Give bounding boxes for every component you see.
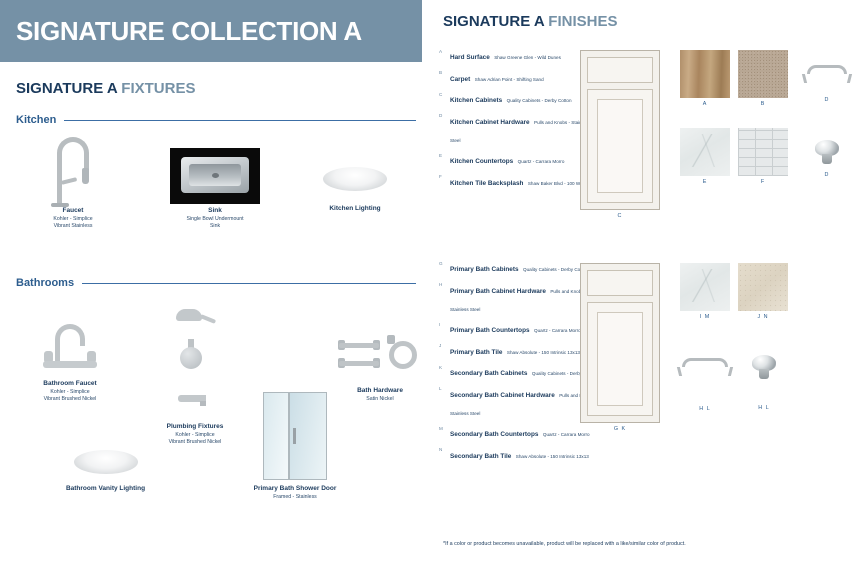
quartz-countertop-swatch (680, 128, 730, 176)
section-header-bathrooms: Bathrooms (16, 277, 416, 289)
fixture-caption: Bathroom Vanity Lighting (48, 485, 163, 494)
page-title: SIGNATURE COLLECTION A (0, 16, 362, 47)
fixture-sub1: Single Bowl Undermount (160, 216, 270, 223)
swatch-hard-surface: A (680, 50, 730, 98)
finishes-title-bold: SIGNATURE A (443, 13, 544, 30)
bath-cabinet-door-sample: G K (580, 263, 660, 423)
legend-item: H Primary Bath Cabinet Hardware Pulls an… (439, 280, 599, 316)
legend-key: G (439, 258, 450, 276)
fixture-name: Kitchen Lighting (300, 205, 410, 214)
swatch-label: D (803, 97, 851, 103)
legend-name: Secondary Bath Countertops (450, 431, 538, 438)
legend-sub: Quality Cabinets - Derby Cotton (507, 98, 572, 103)
legend-sub: Shaw Greene Glen - Wild Dunes (494, 55, 561, 60)
legend-item: M Secondary Bath Countertops Quartz - Ca… (439, 423, 599, 441)
swatch-label: F (738, 179, 788, 185)
quartz-countertop-swatch (680, 263, 730, 311)
legend-key: I (439, 319, 450, 337)
fixture-name: Bathroom Vanity Lighting (48, 485, 163, 494)
legend-key: A (439, 46, 450, 64)
legend-name: Kitchen Cabinet Hardware (450, 119, 530, 126)
finishes-title: SIGNATURE A FINISHES (443, 13, 617, 30)
fixture-caption: Primary Bath Shower Door Framed - Stainl… (240, 485, 350, 501)
floor-tile-swatch (738, 263, 788, 311)
fixture-sub1: Kohler - Simplice (10, 389, 130, 396)
section-rule (64, 120, 416, 121)
fixtures-subtitle-light: FIXTURES (121, 80, 195, 97)
legend-name: Primary Bath Tile (450, 349, 502, 356)
legend-name: Kitchen Cabinets (450, 97, 502, 104)
legend-item: L Secondary Bath Cabinet Hardware Pulls … (439, 384, 599, 420)
fixture-name: Bathroom Faucet (10, 380, 130, 389)
fixture-name: Faucet (18, 207, 128, 216)
legend-item: J Primary Bath Tile Shaw Absolute - 150 … (439, 341, 599, 359)
swatch-label: E (680, 179, 730, 185)
bathroom-faucet-image (39, 318, 101, 374)
fixture-vanity-lighting: Bathroom Vanity Lighting (48, 448, 163, 494)
fixture-caption: Plumbing Fixtures Kohler - Simplice Vibr… (152, 423, 238, 446)
vanity-light-image (74, 448, 138, 478)
kitchen-sink-image (170, 148, 260, 204)
legend-item: N Secondary Bath Tile Shaw Absolute - 15… (439, 445, 599, 463)
swatch-carpet: B (738, 50, 788, 98)
fixture-kitchen-faucet: Faucet Kohler - Simplice Vibrant Stainle… (18, 135, 128, 230)
collection-title-bar: SIGNATURE COLLECTION A (0, 0, 422, 62)
legend-name: Primary Bath Cabinets (450, 266, 519, 273)
legend-item: K Secondary Bath Cabinets Quality Cabine… (439, 362, 599, 380)
kitchen-faucet-image (45, 135, 101, 207)
legend-sub: Quartz - Carrara Morro (518, 159, 565, 164)
section-label-kitchen: Kitchen (16, 114, 64, 126)
wood-floor-swatch (680, 50, 730, 98)
legend-item: B Carpet Shaw Adrian Point - Shifting Sa… (439, 68, 599, 86)
fixture-caption: Bathroom Faucet Kohler - Simplice Vibran… (10, 380, 130, 403)
swatch-label: I M (680, 314, 730, 320)
legend-key: F (439, 172, 450, 190)
shower-door-image (263, 392, 327, 480)
fixtures-subtitle-bold: SIGNATURE A (16, 80, 117, 97)
fixture-bathroom-faucet: Bathroom Faucet Kohler - Simplice Vibran… (10, 318, 130, 403)
section-rule (82, 283, 416, 284)
fixture-name: Plumbing Fixtures (152, 423, 238, 432)
legend-key: M (439, 423, 450, 441)
bath-cabinet-knob: H L (752, 355, 776, 379)
door-label: C (581, 213, 659, 219)
kitchen-cabinet-door-sample: C (580, 50, 660, 210)
swatch-label: A (680, 101, 730, 107)
swatch-kitchen-countertop: E (680, 128, 730, 176)
subway-tile-swatch (738, 128, 788, 176)
legend-key: E (439, 150, 450, 168)
finishes-legend-top: A Hard Surface Shaw Greene Glen - Wild D… (439, 46, 599, 193)
legend-key: K (439, 362, 450, 380)
fixture-shower-door: Primary Bath Shower Door Framed - Stainl… (240, 392, 350, 501)
fixture-caption: Sink Single Bowl Undermount Sink (160, 207, 270, 230)
disclaimer-footnote: *If a color or product becomes unavailab… (443, 541, 686, 547)
fixtures-panel: SIGNATURE COLLECTION A SIGNATURE A FIXTU… (0, 0, 425, 569)
swatch-label: J N (738, 314, 788, 320)
fixture-kitchen-lighting: Kitchen Lighting (300, 165, 410, 214)
door-label: G K (581, 426, 659, 432)
legend-key: H (439, 280, 450, 316)
legend-name: Secondary Bath Cabinet Hardware (450, 392, 555, 399)
fixture-caption: Kitchen Lighting (300, 205, 410, 214)
finishes-title-light: FINISHES (548, 13, 617, 30)
legend-sub: Shaw Absolute - 150 Intrinsic 13x13 (516, 454, 589, 459)
swatch-backsplash: F (738, 128, 788, 176)
legend-key: D (439, 111, 450, 147)
swatch-label: D (815, 172, 839, 178)
fixture-sub1: Kohler - Simplice (152, 432, 238, 439)
legend-key: N (439, 445, 450, 463)
legend-sub: Quartz - Carrara Morro (543, 432, 590, 437)
legend-sub: Quartz - Carrara Morro (534, 328, 581, 333)
fixture-sub2: Vibrant Stainless (18, 223, 128, 230)
fixture-plumbing: Plumbing Fixtures Kohler - Simplice Vibr… (152, 305, 238, 446)
legend-name: Carpet (450, 76, 470, 83)
swatch-label: H L (752, 405, 776, 411)
bath-hardware-image (337, 333, 423, 381)
swatch-bath-countertop: I M (680, 263, 730, 311)
design-board: SIGNATURE COLLECTION A SIGNATURE A FIXTU… (0, 0, 853, 569)
legend-name: Primary Bath Cabinet Hardware (450, 288, 546, 295)
legend-sub: Shaw Absolute - 150 Intrinsic 13x13 (507, 350, 580, 355)
fixture-caption: Faucet Kohler - Simplice Vibrant Stainle… (18, 207, 128, 230)
kitchen-cabinet-knob: D (815, 140, 839, 164)
legend-name: Hard Surface (450, 54, 490, 61)
legend-name: Secondary Bath Tile (450, 453, 511, 460)
legend-item: A Hard Surface Shaw Greene Glen - Wild D… (439, 46, 599, 64)
finishes-legend-bottom: G Primary Bath Cabinets Quality Cabinets… (439, 258, 599, 466)
flush-mount-light-image (323, 165, 387, 195)
legend-name: Kitchen Countertops (450, 158, 513, 165)
fixture-kitchen-sink: Sink Single Bowl Undermount Sink (160, 148, 270, 230)
fixture-name: Sink (160, 207, 270, 216)
fixture-sub1: Framed - Stainless (240, 494, 350, 501)
swatch-label: B (738, 101, 788, 107)
legend-item: I Primary Bath Countertops Quartz - Carr… (439, 319, 599, 337)
legend-item: G Primary Bath Cabinets Quality Cabinets… (439, 258, 599, 276)
kitchen-cabinet-pull: D (803, 65, 851, 83)
fixture-sub2: Vibrant Brushed Nickel (10, 396, 130, 403)
legend-name: Kitchen Tile Backsplash (450, 180, 523, 187)
bath-cabinet-pull: H L (678, 358, 732, 376)
swatch-bath-tile: J N (738, 263, 788, 311)
section-header-kitchen: Kitchen (16, 114, 416, 126)
plumbing-fixtures-image (160, 305, 230, 417)
legend-key: C (439, 89, 450, 107)
fixture-sub1: Kohler - Simplice (18, 216, 128, 223)
fixture-sub2: Vibrant Brushed Nickel (152, 439, 238, 446)
carpet-swatch (738, 50, 788, 98)
fixture-sub2: Sink (160, 223, 270, 230)
legend-item: E Kitchen Countertops Quartz - Carrara M… (439, 150, 599, 168)
legend-item: C Kitchen Cabinets Quality Cabinets - De… (439, 89, 599, 107)
legend-sub: Shaw Adrian Point - Shifting Sand (475, 77, 544, 82)
finishes-panel: SIGNATURE A FINISHES A Hard Surface Shaw… (425, 0, 853, 569)
legend-key: J (439, 341, 450, 359)
legend-name: Primary Bath Countertops (450, 327, 530, 334)
legend-key: B (439, 68, 450, 86)
section-label-bathrooms: Bathrooms (16, 277, 82, 289)
swatch-label: H L (678, 406, 732, 412)
legend-name: Secondary Bath Cabinets (450, 370, 527, 377)
legend-key: L (439, 384, 450, 420)
legend-item: F Kitchen Tile Backsplash Shaw Baker Blv… (439, 172, 599, 190)
fixtures-subtitle: SIGNATURE A FIXTURES (16, 80, 195, 97)
legend-item: D Kitchen Cabinet Hardware Pulls and Kno… (439, 111, 599, 147)
legend-sub: Quality Cabinets - Derby Cotton (523, 267, 588, 272)
fixture-name: Primary Bath Shower Door (240, 485, 350, 494)
